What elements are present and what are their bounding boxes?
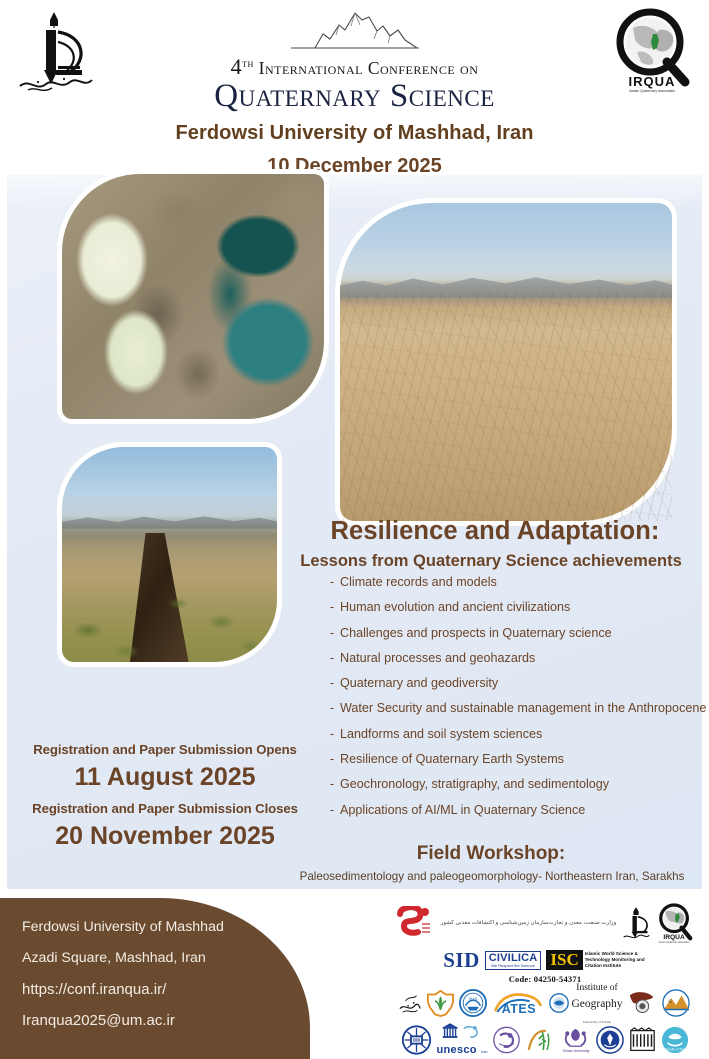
geological-survey-of-iran-logo-icon [396,906,436,940]
footer-website-link[interactable]: https://conf.iranqua.ir/ [22,974,322,1005]
fissure-mountain-ridge [62,512,277,529]
shiraz-university-label: Shiraz University [563,1049,590,1053]
sponsor-row-1: وزارت صنعت، معدن و تجارت سازمان زمین‌شنا… [386,900,704,946]
important-dates: Registration and Paper Submission Opens … [0,742,330,851]
footer-address: Azadi Square, Mashhad, Iran [22,943,322,974]
conference-edition-number: 4 [231,54,243,79]
topic-dash: - [330,777,334,792]
photo-lake-urmia [62,174,324,419]
topic-item: -Geochronology, stratigraphy, and sedime… [330,777,708,792]
sponsor-row-3: IRAN ATES Institute of Geography [386,985,704,1021]
topics-list: -Climate records and models-Human evolut… [330,575,708,828]
ministry-line-2: سازمان زمین‌شناسی و اکتشافات معدنی کشور [441,919,549,927]
playa-cracked-surface [340,292,672,521]
topic-item: -Resilience of Quaternary Earth Systems [330,752,708,767]
topic-item: -Landforms and soil system sciences [330,727,708,742]
poster-header: IRQUA Iranian Quaternary Association 4th… [0,0,709,180]
ferdowsi-seal-logo-icon [596,1026,624,1054]
topic-item: -Quaternary and geodiversity [330,676,708,691]
topic-label: Applications of AI/ML in Quaternary Scie… [340,803,585,817]
topic-item: -Water Security and sustainable manageme… [330,701,708,716]
photo-land-subsidence-fissure [62,447,277,662]
mountain-line-art-icon [289,8,421,52]
unesco-sub: Iran [481,1050,487,1054]
topic-dash: - [330,626,334,641]
university-emblem-logo-icon [401,1025,432,1055]
footer-email-link[interactable]: Iranqua2025@um.ac.ir [22,1005,322,1036]
topic-dash: - [330,600,334,615]
topic-label: Climate records and models [340,575,497,589]
svg-text:University of Tehran: University of Tehran [662,1047,690,1051]
footer-contact-text: Ferdowsi University of Mashhad Azadi Squ… [22,912,322,1036]
mountain-society-logo-icon: G [660,989,692,1017]
mazandaran-university-logo-icon [629,1027,656,1054]
photo-dry-playa [340,203,672,521]
topic-dash: - [330,803,334,818]
topic-item: -Natural processes and geohazards [330,651,708,666]
footer-organization: Ferdowsi University of Mashhad [22,912,322,943]
topic-label: Landforms and soil system sciences [340,727,542,741]
calligraphy-logo-icon [398,990,422,1016]
conference-edition-suffix: th [242,56,254,70]
submission-opens-label: Registration and Paper Submission Opens [0,742,330,757]
submission-opens-date: 11 August 2025 [0,763,330,792]
field-workshop-title: Field Workshop: [276,843,706,865]
institute-of-geography-logo: Institute of Geography University of Teh… [549,978,622,1028]
theme-subtitle: Lessons from Quaternary Science achievem… [276,552,706,571]
ministry-of-industry-mine-trade-label: وزارت صنعت، معدن و تجارت سازمان زمین‌شنا… [441,919,617,927]
agriculture-university-logo-icon [526,1026,555,1054]
conference-date: 10 December 2025 [0,155,709,178]
ates-wordmark: ATES [502,1002,536,1016]
conference-title: Quaternary Science [0,78,709,115]
topic-dash: - [330,727,334,742]
topic-label: Challenges and prospects in Quaternary s… [340,626,612,640]
ferdowsi-university-logo-small-icon [621,905,651,941]
civilica-wordmark: CIVILICA [489,953,538,964]
sponsor-row-4: unesco Iran [386,1023,704,1057]
isc-description: Islamic World Science & Technology Monit… [585,951,647,968]
ministry-line-1: وزارت صنعت، معدن و تجارت [548,919,616,927]
ates-logo: ATES [492,990,544,1016]
svg-text:Iranian Quaternary Association: Iranian Quaternary Association [659,941,691,944]
conference-line1-text: International Conference on [259,58,479,78]
conference-poster: IRQUA Iranian Quaternary Association 4th… [0,0,709,1059]
topic-item: -Climate records and models [330,575,708,590]
conference-venue: Ferdowsi University of Mashhad, Iran [0,122,709,145]
topic-label: Geochronology, stratigraphy, and sedimen… [340,777,609,791]
topic-label: Resilience of Quaternary Earth Systems [340,752,564,766]
sponsor-row-2: SID CIVILICA We Respect the Science ISC … [386,947,704,973]
topic-label: Human evolution and ancient civilization… [340,600,570,614]
fissure-vegetation [62,529,277,662]
svg-text:IRAN: IRAN [469,997,478,1001]
tehran-university-logo-icon: University of Tehran [661,1026,689,1054]
isc-code: Code: 04250-54371 [386,974,704,984]
conference-edition-line: 4th International Conference on [0,54,709,80]
topic-item: -Applications of AI/ML in Quaternary Sci… [330,803,708,818]
topic-item: -Challenges and prospects in Quaternary … [330,626,708,641]
topic-dash: - [330,752,334,767]
topic-dash: - [330,651,334,666]
iranian-society-logo-icon: IRAN [459,989,487,1017]
topic-dash: - [330,676,334,691]
submission-closes-label: Registration and Paper Submission Closes [0,801,330,816]
topic-dash: - [330,701,334,716]
sid-logo-label: SID [443,948,480,973]
theme-title: Resilience and Adaptation: [288,517,702,546]
unesco-logo: unesco Iran [437,1023,488,1058]
topic-label: Quaternary and geodiversity [340,676,498,690]
unesco-wordmark: unesco [437,1044,477,1056]
civilica-tagline: We Respect the Science [489,964,538,968]
sponsor-logo-grid: وزارت صنعت، معدن و تجارت سازمان زمین‌شنا… [386,900,704,1055]
seal-logo-green-icon [427,990,454,1017]
topic-label: Natural processes and geohazards [340,651,535,665]
institute-of-label: Institute of [576,983,617,993]
irqua-logo-small-icon: IRQUA Iranian Quaternary Association [656,902,694,944]
topic-dash: - [330,575,334,590]
irqua-small-wordmark: IRQUA [664,934,686,941]
geography-label: Geography [571,998,622,1010]
civilica-logo: CIVILICA We Respect the Science [485,951,542,970]
geography-sub-label: University of Tehran [583,1020,611,1024]
isc-wordmark: ISC [546,950,582,970]
field-workshop-subtitle: Paleosedimentology and paleogeomorpholog… [276,870,708,883]
topic-item: -Human evolution and ancient civilizatio… [330,600,708,615]
shiraz-university-logo: Shiraz University [560,1027,591,1053]
isc-logo: ISC Islamic World Science & Technology M… [546,950,646,970]
society-logo-purple-icon [492,1026,521,1054]
geo-institute-logo-icon [628,990,655,1017]
topic-label: Water Security and sustainable managemen… [340,701,706,715]
